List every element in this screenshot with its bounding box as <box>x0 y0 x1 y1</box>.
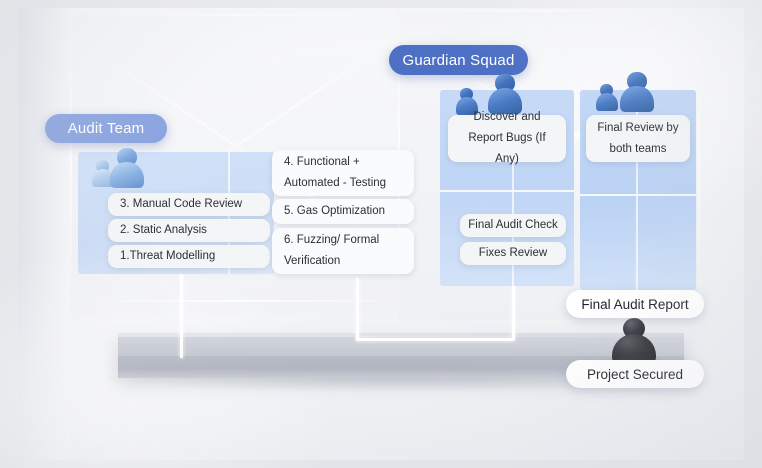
badge-audit-team-label: Audit Team <box>68 120 145 137</box>
guardian-step-label-fixes-review: Fixes Review <box>479 244 547 263</box>
project-secured-pill[interactable]: Project Secured <box>566 360 704 388</box>
testing-step-card-4[interactable]: 4. Functional + Automated - Testing <box>272 150 414 196</box>
person-small-body <box>596 93 618 111</box>
guardian-primary-line2: Report Bugs (If Any) <box>456 128 558 170</box>
testing-step-card-6[interactable]: 6. Fuzzing/ Formal Verification <box>272 228 414 274</box>
person-large-icon <box>620 72 654 112</box>
connector-audit-to-platform <box>180 274 183 358</box>
person-large-body <box>110 162 144 188</box>
testing-step-label-5: 5. Gas Optimization <box>284 202 402 221</box>
badge-audit-team[interactable]: Audit Team <box>45 114 167 143</box>
project-secured-label: Project Secured <box>587 367 683 382</box>
person-small-icon <box>596 84 618 111</box>
diagram-canvas: Audit Team 3. Manual Code Review 2. Stat… <box>0 0 762 468</box>
final-audit-report-pill[interactable]: Final Audit Report <box>566 290 704 318</box>
connector-guardian-to-platform <box>512 286 515 340</box>
audit-step-card-1[interactable]: 1.Threat Modelling <box>108 245 270 268</box>
guardian-step-card-fixes-review[interactable]: Fixes Review <box>460 242 566 265</box>
audit-step-label-1: 1.Threat Modelling <box>120 247 258 266</box>
testing-step-label-6-line1: 6. Fuzzing/ Formal <box>284 230 402 251</box>
final-review-line2: both teams <box>592 139 684 160</box>
audit-step-label-3: 3. Manual Code Review <box>120 195 258 214</box>
badge-guardian-squad-label: Guardian Squad <box>402 52 514 69</box>
guardian-primary-card[interactable]: Discover and Report Bugs (If Any) <box>448 115 566 162</box>
testing-step-label-4-line2: Automated - Testing <box>284 173 402 194</box>
guardian-step-card-final-audit-check[interactable]: Final Audit Check <box>460 214 566 237</box>
badge-guardian-squad[interactable]: Guardian Squad <box>389 45 528 75</box>
person-large-icon <box>110 148 144 188</box>
connector-bottom-bridge <box>356 338 514 341</box>
guardian-primary-line1: Discover and <box>456 107 558 128</box>
guardian-step-label-final-audit-check: Final Audit Check <box>468 216 558 235</box>
final-review-card[interactable]: Final Review by both teams <box>586 115 690 162</box>
panel-divider <box>580 194 696 196</box>
testing-step-label-6-line2: Verification <box>284 251 402 272</box>
background-grid-line <box>70 14 400 16</box>
final-review-line1: Final Review by <box>592 118 684 139</box>
dark-mascot-icon <box>612 318 656 364</box>
person-large-body <box>620 86 654 112</box>
platform-top-edge <box>118 333 684 337</box>
testing-step-label-4-line1: 4. Functional + <box>284 152 402 173</box>
connector-testing-to-platform <box>356 278 359 340</box>
audit-step-card-3[interactable]: 3. Manual Code Review <box>108 193 270 216</box>
audit-step-label-2: 2. Static Analysis <box>120 221 258 240</box>
panel-divider <box>440 190 574 192</box>
audit-step-card-2[interactable]: 2. Static Analysis <box>108 219 270 242</box>
final-audit-report-label: Final Audit Report <box>581 297 688 312</box>
testing-step-card-5[interactable]: 5. Gas Optimization <box>272 199 414 224</box>
